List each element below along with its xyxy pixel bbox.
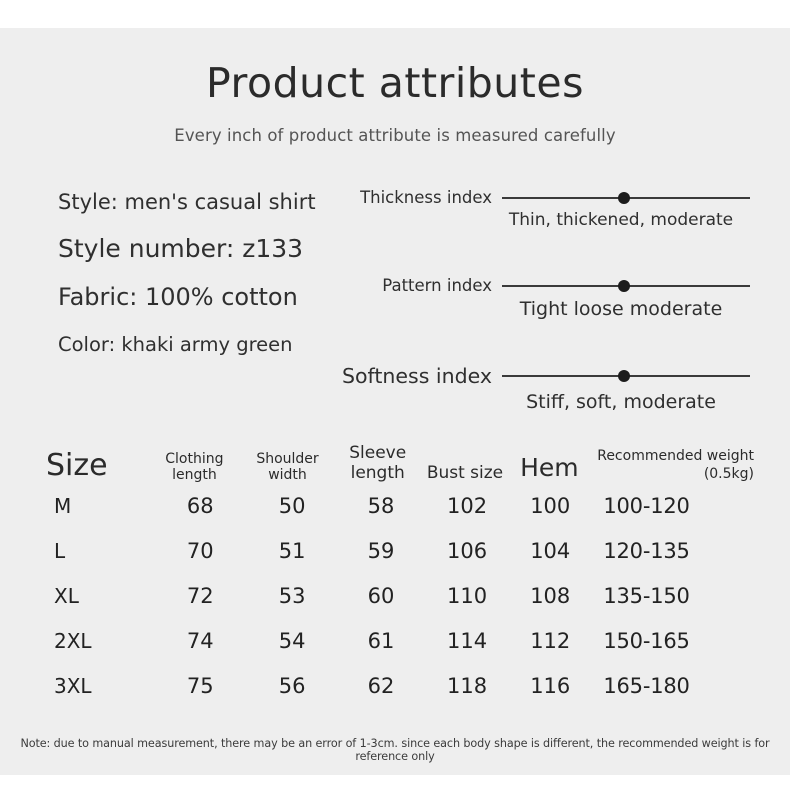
cell-shoulder-width: 51 xyxy=(247,539,337,563)
thickness-index-caption: Thin, thickened, moderate xyxy=(492,210,750,230)
table-row: 2XL 74 54 61 114 112 150-165 xyxy=(34,618,764,663)
pattern-index-label: Pattern index xyxy=(330,276,502,295)
cell-hem: 116 xyxy=(509,674,591,698)
cell-size: 3XL xyxy=(34,674,153,698)
softness-index-track-wrap[interactable] xyxy=(502,368,750,384)
softness-index-knob[interactable] xyxy=(618,370,630,382)
cell-shoulder-width: 53 xyxy=(247,584,337,608)
cell-sleeve-length: 62 xyxy=(337,674,425,698)
size-table-header-row: Size Clothing length Shoulder width Slee… xyxy=(34,444,764,483)
cell-hem: 112 xyxy=(509,629,591,653)
header-clothing-length: Clothing length xyxy=(147,451,242,483)
cell-hem: 104 xyxy=(509,539,591,563)
cell-weight: 165-180 xyxy=(591,674,764,698)
table-row: XL 72 53 60 110 108 135-150 xyxy=(34,573,764,618)
cell-sleeve-length: 58 xyxy=(337,494,425,518)
cell-clothing-length: 74 xyxy=(153,629,247,653)
cell-clothing-length: 70 xyxy=(153,539,247,563)
index-slider-group: Thickness index Thin, thickened, moderat… xyxy=(330,188,750,452)
header-hem: Hem xyxy=(508,454,591,483)
cell-bust-size: 110 xyxy=(425,584,509,608)
table-row: 3XL 75 56 62 118 116 165-180 xyxy=(34,663,764,708)
page-title: Product attributes xyxy=(0,62,790,105)
cell-weight: 120-135 xyxy=(591,539,764,563)
cell-bust-size: 114 xyxy=(425,629,509,653)
header-bust-size: Bust size xyxy=(422,464,507,484)
cell-bust-size: 118 xyxy=(425,674,509,698)
pattern-index-knob[interactable] xyxy=(618,280,630,292)
thickness-index-knob[interactable] xyxy=(618,192,630,204)
cell-size: 2XL xyxy=(34,629,153,653)
header-recommended-weight-text: Recommended weight xyxy=(591,448,754,466)
pattern-index-track-wrap[interactable] xyxy=(502,278,750,294)
cell-size: L xyxy=(34,539,153,563)
header-shoulder-width: Shoulder width xyxy=(242,451,333,483)
measurement-note: Note: due to manual measurement, there m… xyxy=(0,737,790,763)
page-subtitle: Every inch of product attribute is measu… xyxy=(0,126,790,145)
softness-index-label: Softness index xyxy=(330,364,502,388)
softness-index-caption: Stiff, soft, moderate xyxy=(492,391,750,413)
thickness-index-track-wrap[interactable] xyxy=(502,190,750,206)
cell-sleeve-length: 60 xyxy=(337,584,425,608)
thickness-index-label: Thickness index xyxy=(330,188,502,207)
cell-bust-size: 102 xyxy=(425,494,509,518)
cell-weight: 100-120 xyxy=(591,494,764,518)
cell-sleeve-length: 59 xyxy=(337,539,425,563)
cell-weight: 150-165 xyxy=(591,629,764,653)
table-row: L 70 51 59 106 104 120-135 xyxy=(34,528,764,573)
cell-bust-size: 106 xyxy=(425,539,509,563)
header-sleeve-length: Sleeve length xyxy=(333,444,422,483)
cell-size: XL xyxy=(34,584,153,608)
cell-clothing-length: 75 xyxy=(153,674,247,698)
thickness-index-slider[interactable]: Thickness index Thin, thickened, moderat… xyxy=(330,188,750,276)
size-table: Size Clothing length Shoulder width Slee… xyxy=(34,444,764,708)
product-attributes-page: Product attributes Every inch of product… xyxy=(0,0,790,811)
cell-shoulder-width: 54 xyxy=(247,629,337,653)
pattern-index-slider[interactable]: Pattern index Tight loose moderate xyxy=(330,276,750,364)
cell-hem: 108 xyxy=(509,584,591,608)
cell-shoulder-width: 50 xyxy=(247,494,337,518)
cell-size: M xyxy=(34,494,153,518)
cell-sleeve-length: 61 xyxy=(337,629,425,653)
cell-clothing-length: 72 xyxy=(153,584,247,608)
pattern-index-caption: Tight loose moderate xyxy=(492,298,750,320)
cell-hem: 100 xyxy=(509,494,591,518)
header-size: Size xyxy=(34,449,147,484)
cell-shoulder-width: 56 xyxy=(247,674,337,698)
table-row: M 68 50 58 102 100 100-120 xyxy=(34,483,764,528)
cell-weight: 135-150 xyxy=(591,584,764,608)
softness-index-slider[interactable]: Softness index Stiff, soft, moderate xyxy=(330,364,750,452)
header-recommended-weight-unit: (0.5kg) xyxy=(591,466,754,484)
header-recommended-weight: Recommended weight (0.5kg) xyxy=(591,448,764,483)
cell-clothing-length: 68 xyxy=(153,494,247,518)
